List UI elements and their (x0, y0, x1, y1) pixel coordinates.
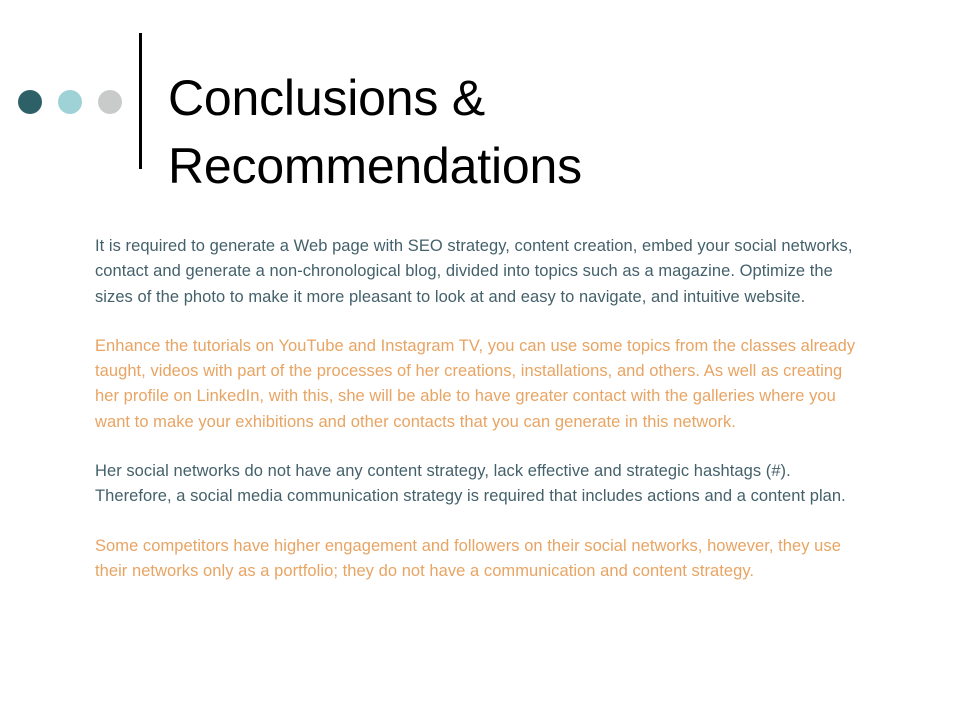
paragraph-4: Some competitors have higher engagement … (95, 534, 867, 585)
paragraph-2: Enhance the tutorials on YouTube and Ins… (95, 334, 867, 435)
dot-gray-icon (98, 90, 122, 114)
page-title-line-1: Conclusions & (168, 64, 908, 132)
page-title: Conclusions & Recommendations (168, 64, 908, 200)
title-vertical-rule (139, 33, 142, 169)
page-title-line-2: Recommendations (168, 132, 908, 200)
decorative-dot-cluster (18, 90, 122, 114)
dot-dark-teal-icon (18, 90, 42, 114)
slide-canvas: Conclusions & Recommendations It is requ… (0, 0, 960, 720)
body-content: It is required to generate a Web page wi… (95, 234, 867, 584)
dot-light-teal-icon (58, 90, 82, 114)
paragraph-1: It is required to generate a Web page wi… (95, 234, 867, 310)
paragraph-3: Her social networks do not have any cont… (95, 459, 867, 510)
